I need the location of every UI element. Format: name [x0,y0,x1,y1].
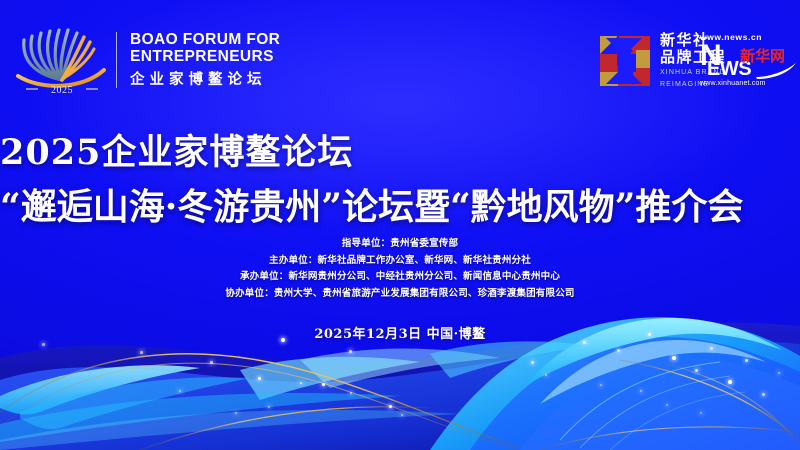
xinhua-brand-diamond-icon [598,34,652,88]
organizer-list: 指导单位：贵州省委宣传部 主办单位：新华社品牌工作办公室、新华网、新华社贵州分社… [0,236,800,302]
boao-forum-wordmark: BOAO FORUM FOR ENTREPRENEURS 企业家博鳌论坛 [130,31,280,89]
event-backdrop-stage: 2025 BOAO FORUM FOR ENTREPRENEURS 企业家博鳌论… [0,0,800,450]
organizer-line-organizer: 承办单位：新华网贵州分公司、中经社贵州分公司、新闻信息中心贵州中心 [0,269,800,286]
organizer-line-guidance: 指导单位：贵州省委宣传部 [0,236,800,253]
forum-title-en-line2: ENTREPRENEURS [130,48,280,65]
header-bar: 2025 BOAO FORUM FOR ENTREPRENEURS 企业家博鳌论… [0,0,800,118]
boao-forum-logo: 2025 BOAO FORUM FOR ENTREPRENEURS 企业家博鳌论… [14,22,280,98]
event-main-title: 2025企业家博鳌论坛 [0,124,800,175]
wave-svg [0,300,800,450]
forum-title-en-line1: BOAO FORUM FOR [130,31,280,48]
logo-divider [116,32,117,88]
boao-fan-emblem-icon: 2025 [14,22,110,98]
organizer-line-host: 主办单位：新华社品牌工作办公室、新华网、新华社贵州分社 [0,253,800,270]
forum-title-cn: 企业家博鳌论坛 [130,68,280,89]
news-url-bottom: www.xinhuanet.com [700,80,796,87]
logo-year: 2025 [14,85,110,96]
event-subtitle: “邂逅山海·冬游贵州”论坛暨“黔地风物”推介会 [0,178,800,230]
news-wordmark: N EWS 新华网 [700,43,796,79]
xinhua-diamond-svg [598,34,652,88]
news-swoosh-icon [756,63,798,79]
wave-graphic [0,300,800,450]
news-cn-logo: www.news.cn N EWS 新华网 www.xinhuanet.com [700,32,796,92]
